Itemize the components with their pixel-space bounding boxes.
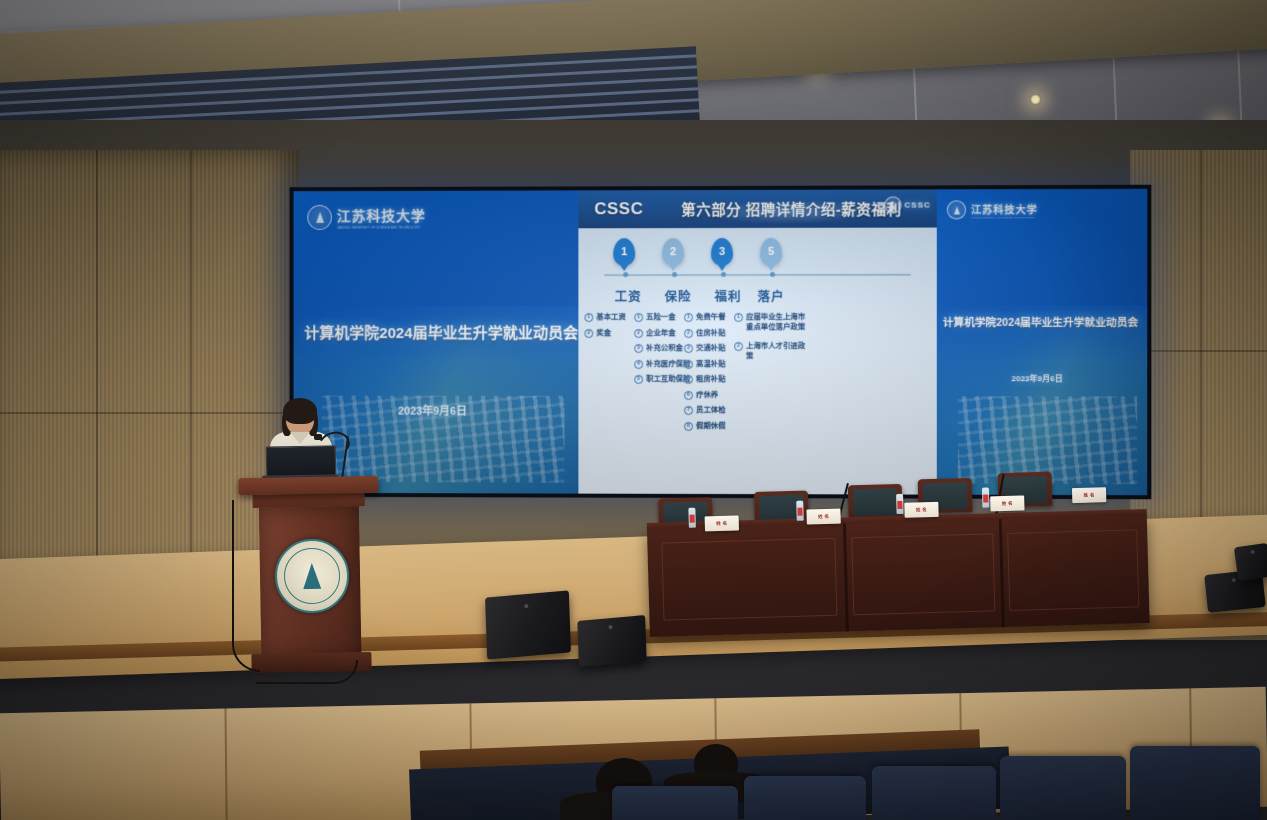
column-item: 7员工体检 xyxy=(684,405,772,415)
lectern-podium xyxy=(246,476,373,673)
ceiling-downlight xyxy=(1030,94,1041,105)
step-markers: 1 2 3 5 xyxy=(578,234,936,281)
university-logo-right: 江苏科技大学 JIANGSU UNIVERSITY OF SCIENCE AND… xyxy=(947,200,1038,219)
table-front-panel xyxy=(647,515,1150,637)
campus-photo-right xyxy=(937,305,1147,495)
water-bottle xyxy=(796,501,804,521)
audience-seat xyxy=(744,776,866,820)
step-marker-3: 3 xyxy=(711,238,733,266)
presenter-glasses xyxy=(288,416,312,422)
stage-monitor-speaker-small xyxy=(577,615,646,667)
led-display-screen: 江苏科技大学 JIANGSU UNIVERSITY OF SCIENCE AND… xyxy=(290,185,1152,500)
banner-date-left: 2023年9月6日 xyxy=(398,403,467,419)
column-item: 1应届毕业生上海市重点单位落户政策 xyxy=(734,312,808,332)
column-item: 2上海市人才引进政策 xyxy=(734,341,808,361)
column-item: 8假期休假 xyxy=(684,420,772,430)
slide-header-title: 第六部分 招聘详情介绍-薪资福利 xyxy=(681,198,901,220)
university-name-en: JIANGSU UNIVERSITY OF SCIENCE AND TECHNO… xyxy=(337,225,426,229)
slide-header-bar: CSSC 第六部分 招聘详情介绍-薪资福利 CSSC xyxy=(578,189,936,228)
podium-microphone xyxy=(312,432,350,480)
banner-title-right: 计算机学院2024届毕业生升学就业动员会 xyxy=(943,315,1138,330)
table-chair xyxy=(848,484,903,519)
benefit-column-hukou: 落户 1应届毕业生上海市重点单位落户政策 2上海市人才引进政策 xyxy=(734,286,808,367)
column-item: 6疗休养 xyxy=(684,389,772,399)
column-heading: 落户 xyxy=(734,286,808,305)
banner-date-right: 2023年9月6日 xyxy=(1011,373,1062,384)
presentation-slide: CSSC 第六部分 招聘详情介绍-薪资福利 CSSC xyxy=(578,189,936,494)
audience-seat xyxy=(1130,746,1260,820)
water-bottle xyxy=(896,494,904,514)
name-card: 姓 名 xyxy=(904,502,938,518)
stage-monitor-speaker-large xyxy=(485,590,571,659)
column-item: 5租房补贴 xyxy=(684,374,772,384)
head-table: 姓 名 姓 名 姓 名 姓 名 姓 名 xyxy=(646,481,1150,647)
banner-right: 江苏科技大学 JIANGSU UNIVERSITY OF SCIENCE AND… xyxy=(937,189,1147,495)
university-seal-icon xyxy=(884,197,901,214)
university-logo-slide: CSSC xyxy=(884,196,931,213)
podium-desktop xyxy=(238,476,378,495)
university-name-cn: CSSC xyxy=(904,200,930,209)
university-name-cn: 江苏科技大学 xyxy=(337,205,426,225)
name-card: 姓 名 xyxy=(1072,487,1106,503)
banner-title-left: 计算机学院2024届毕业生升学就业动员会 xyxy=(304,321,578,343)
water-bottle xyxy=(982,487,990,507)
name-card: 姓 名 xyxy=(990,495,1024,511)
university-name-cn: 江苏科技大学 xyxy=(971,201,1038,216)
university-name-en: JIANGSU UNIVERSITY OF SCIENCE AND TECHNO… xyxy=(971,216,1038,219)
university-seal-icon xyxy=(307,205,332,230)
podium-cable xyxy=(232,500,260,672)
audience-seat xyxy=(1000,756,1126,820)
step-marker-4: 5 xyxy=(760,238,782,266)
audience-seat xyxy=(612,786,738,820)
step-axis-line xyxy=(604,274,910,276)
step-marker-2: 2 xyxy=(662,238,684,266)
step-marker-1: 1 xyxy=(613,238,635,266)
auditorium-scene: 江苏科技大学 JIANGSU UNIVERSITY OF SCIENCE AND… xyxy=(0,0,1267,820)
name-card: 姓 名 xyxy=(705,515,739,531)
podium-neck xyxy=(253,493,365,508)
side-speaker-right-upper xyxy=(1234,543,1267,581)
screen-surface: 江苏科技大学 JIANGSU UNIVERSITY OF SCIENCE AND… xyxy=(294,189,1148,495)
microphone-gooseneck xyxy=(315,428,353,463)
name-card: 姓 名 xyxy=(806,509,840,525)
university-seal-icon xyxy=(947,200,966,219)
water-bottle xyxy=(688,508,696,528)
cssc-logo: CSSC xyxy=(594,199,643,219)
university-logo-left: 江苏科技大学 JIANGSU UNIVERSITY OF SCIENCE AND… xyxy=(307,205,425,230)
audience-seat xyxy=(872,766,996,820)
floor-cable xyxy=(256,660,358,684)
microphone-capsule xyxy=(314,434,322,440)
